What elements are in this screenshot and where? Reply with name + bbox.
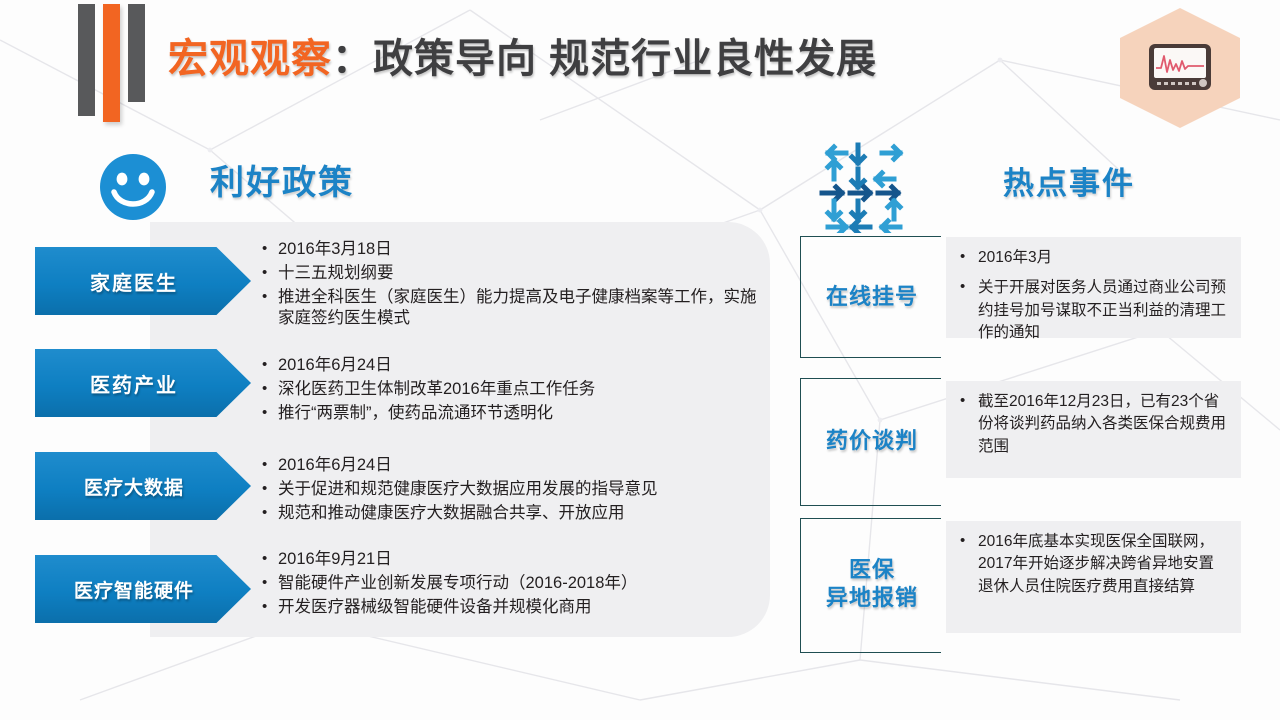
list-item-text: 智能硬件产业创新发展专项行动（2016-2018年） <box>278 573 782 595</box>
bullet-dot-icon: • <box>262 263 278 283</box>
right-label-2-line1: 医保 <box>802 556 942 584</box>
left-tag-0-label: 家庭医生 <box>90 267 196 296</box>
list-item: •关于促进和规范健康医疗大数据应用发展的指导意见 <box>262 479 782 501</box>
right-content-box-1: •截至2016年12月23日，已有23个省份将谈判药品纳入各类医保合规费用范围 <box>946 381 1241 478</box>
list-item-text: 2016年3月 <box>978 247 1227 269</box>
left-bullets-2: •2016年6月24日 •关于促进和规范健康医疗大数据应用发展的指导意见 •规范… <box>262 455 782 526</box>
list-item-text: 推进全科医生（家庭医生）能力提高及电子健康档案等工作，实施家庭签约医生模式 <box>278 287 762 331</box>
bullet-dot-icon: • <box>960 391 978 411</box>
smiley-face-icon <box>97 151 169 223</box>
bullet-dot-icon: • <box>262 403 278 423</box>
right-content-box-2: •2016年底基本实现医保全国联网，2017年开始逐步解决跨省异地安置退休人员住… <box>946 521 1241 633</box>
bullet-dot-icon: • <box>262 379 278 399</box>
left-tag-2-label: 医疗大数据 <box>84 473 202 500</box>
title-bar-orange <box>103 4 120 122</box>
page-title-rest: ：政策导向 规范行业良性发展 <box>332 37 877 81</box>
left-tag-3-label: 医疗智能硬件 <box>74 576 212 603</box>
list-item-text: 深化医药卫生体制改革2016年重点工作任务 <box>278 379 762 401</box>
left-tag-1-label: 医药产业 <box>90 369 196 398</box>
list-item: •开发医疗器械级智能硬件设备并规模化商用 <box>262 597 782 619</box>
list-item-text: 关于开展对医务人员通过商业公司预约挂号加号谋取不正当利益的清理工作的通知 <box>978 277 1227 344</box>
multi-direction-arrows-icon <box>816 141 912 233</box>
page-title: 宏观观察：政策导向 规范行业良性发展 <box>168 26 877 84</box>
list-item: •推进全科医生（家庭医生）能力提高及电子健康档案等工作，实施家庭签约医生模式 <box>262 287 762 331</box>
left-tag-2[interactable]: 医疗大数据 <box>35 452 251 520</box>
list-item-text: 推行“两票制”，使药品流通环节透明化 <box>278 403 762 425</box>
left-tag-row-0[interactable]: 家庭医生 <box>35 247 251 315</box>
right-label-0-line1: 在线挂号 <box>802 283 942 311</box>
bullet-dot-icon: • <box>262 455 278 475</box>
slide-canvas: 宏观观察：政策导向 规范行业良性发展 利好政策 家庭医生 •201 <box>0 0 1280 720</box>
left-tag-row-2[interactable]: 医疗大数据 <box>35 452 251 520</box>
list-item-text: 关于促进和规范健康医疗大数据应用发展的指导意见 <box>278 479 782 501</box>
list-item: •深化医药卫生体制改革2016年重点工作任务 <box>262 379 762 401</box>
list-item: •2016年3月 <box>960 247 1227 269</box>
left-bullets-3: •2016年9月21日 •智能硬件产业创新发展专项行动（2016-2018年） … <box>262 549 782 620</box>
left-section-heading: 利好政策 <box>210 155 354 204</box>
list-item-text: 2016年6月24日 <box>278 355 762 377</box>
bullet-dot-icon: • <box>262 239 278 259</box>
list-item-text: 规范和推动健康医疗大数据融合共享、开放应用 <box>278 503 782 525</box>
list-item: •规范和推动健康医疗大数据融合共享、开放应用 <box>262 503 782 525</box>
bullet-dot-icon: • <box>262 355 278 375</box>
bullet-dot-icon: • <box>262 549 278 569</box>
page-title-highlight: 宏观观察 <box>168 37 332 81</box>
left-tag-row-3[interactable]: 医疗智能硬件 <box>35 555 251 623</box>
ecg-monitor-icon <box>1148 43 1212 91</box>
bullet-dot-icon: • <box>960 531 978 551</box>
list-item-text: 2016年6月24日 <box>278 455 782 477</box>
bullet-dot-icon: • <box>262 479 278 499</box>
list-item: •2016年9月21日 <box>262 549 782 571</box>
right-label-1-line1: 药价谈判 <box>802 427 942 455</box>
list-item-text: 开发医疗器械级智能硬件设备并规模化商用 <box>278 597 782 619</box>
list-item: •2016年底基本实现医保全国联网，2017年开始逐步解决跨省异地安置退休人员住… <box>960 531 1227 598</box>
list-item: •关于开展对医务人员通过商业公司预约挂号加号谋取不正当利益的清理工作的通知 <box>960 277 1227 344</box>
list-item: •2016年6月24日 <box>262 455 782 477</box>
bullet-dot-icon: • <box>262 597 278 617</box>
list-item: •十三五规划纲要 <box>262 263 762 285</box>
left-tag-row-1[interactable]: 医药产业 <box>35 349 251 417</box>
bullet-dot-icon: • <box>262 287 278 307</box>
right-label-2-line2: 异地报销 <box>802 584 942 612</box>
right-label-1: 药价谈判 <box>802 427 942 455</box>
list-item-text: 2016年3月18日 <box>278 239 762 261</box>
title-bar-gray-left <box>78 4 95 116</box>
right-content-box-0: •2016年3月 •关于开展对医务人员通过商业公司预约挂号加号谋取不正当利益的清… <box>946 237 1241 338</box>
list-item-text: 十三五规划纲要 <box>278 263 762 285</box>
list-item-text: 2016年9月21日 <box>278 549 782 571</box>
title-bar-gray-right <box>128 4 145 102</box>
list-item: •截至2016年12月23日，已有23个省份将谈判药品纳入各类医保合规费用范围 <box>960 391 1227 458</box>
right-label-2: 医保 异地报销 <box>802 556 942 611</box>
bullet-dot-icon: • <box>960 277 978 297</box>
right-section-heading: 热点事件 <box>1003 158 1135 203</box>
list-item: •推行“两票制”，使药品流通环节透明化 <box>262 403 762 425</box>
left-tag-0[interactable]: 家庭医生 <box>35 247 251 315</box>
bullet-dot-icon: • <box>960 247 978 267</box>
hexagon-badge <box>1120 8 1240 128</box>
left-tag-3[interactable]: 医疗智能硬件 <box>35 555 251 623</box>
list-item-text: 截至2016年12月23日，已有23个省份将谈判药品纳入各类医保合规费用范围 <box>978 391 1227 458</box>
list-item-text: 2016年底基本实现医保全国联网，2017年开始逐步解决跨省异地安置退休人员住院… <box>978 531 1227 598</box>
bullet-dot-icon: • <box>262 573 278 593</box>
bullet-dot-icon: • <box>262 503 278 523</box>
left-bullets-1: •2016年6月24日 •深化医药卫生体制改革2016年重点工作任务 •推行“两… <box>262 355 762 426</box>
left-bullets-0: •2016年3月18日 •十三五规划纲要 •推进全科医生（家庭医生）能力提高及电… <box>262 239 762 332</box>
right-label-0: 在线挂号 <box>802 283 942 311</box>
title-accent-bars <box>78 4 145 122</box>
list-item: •2016年3月18日 <box>262 239 762 261</box>
left-tag-1[interactable]: 医药产业 <box>35 349 251 417</box>
list-item: •2016年6月24日 <box>262 355 762 377</box>
list-item: •智能硬件产业创新发展专项行动（2016-2018年） <box>262 573 782 595</box>
